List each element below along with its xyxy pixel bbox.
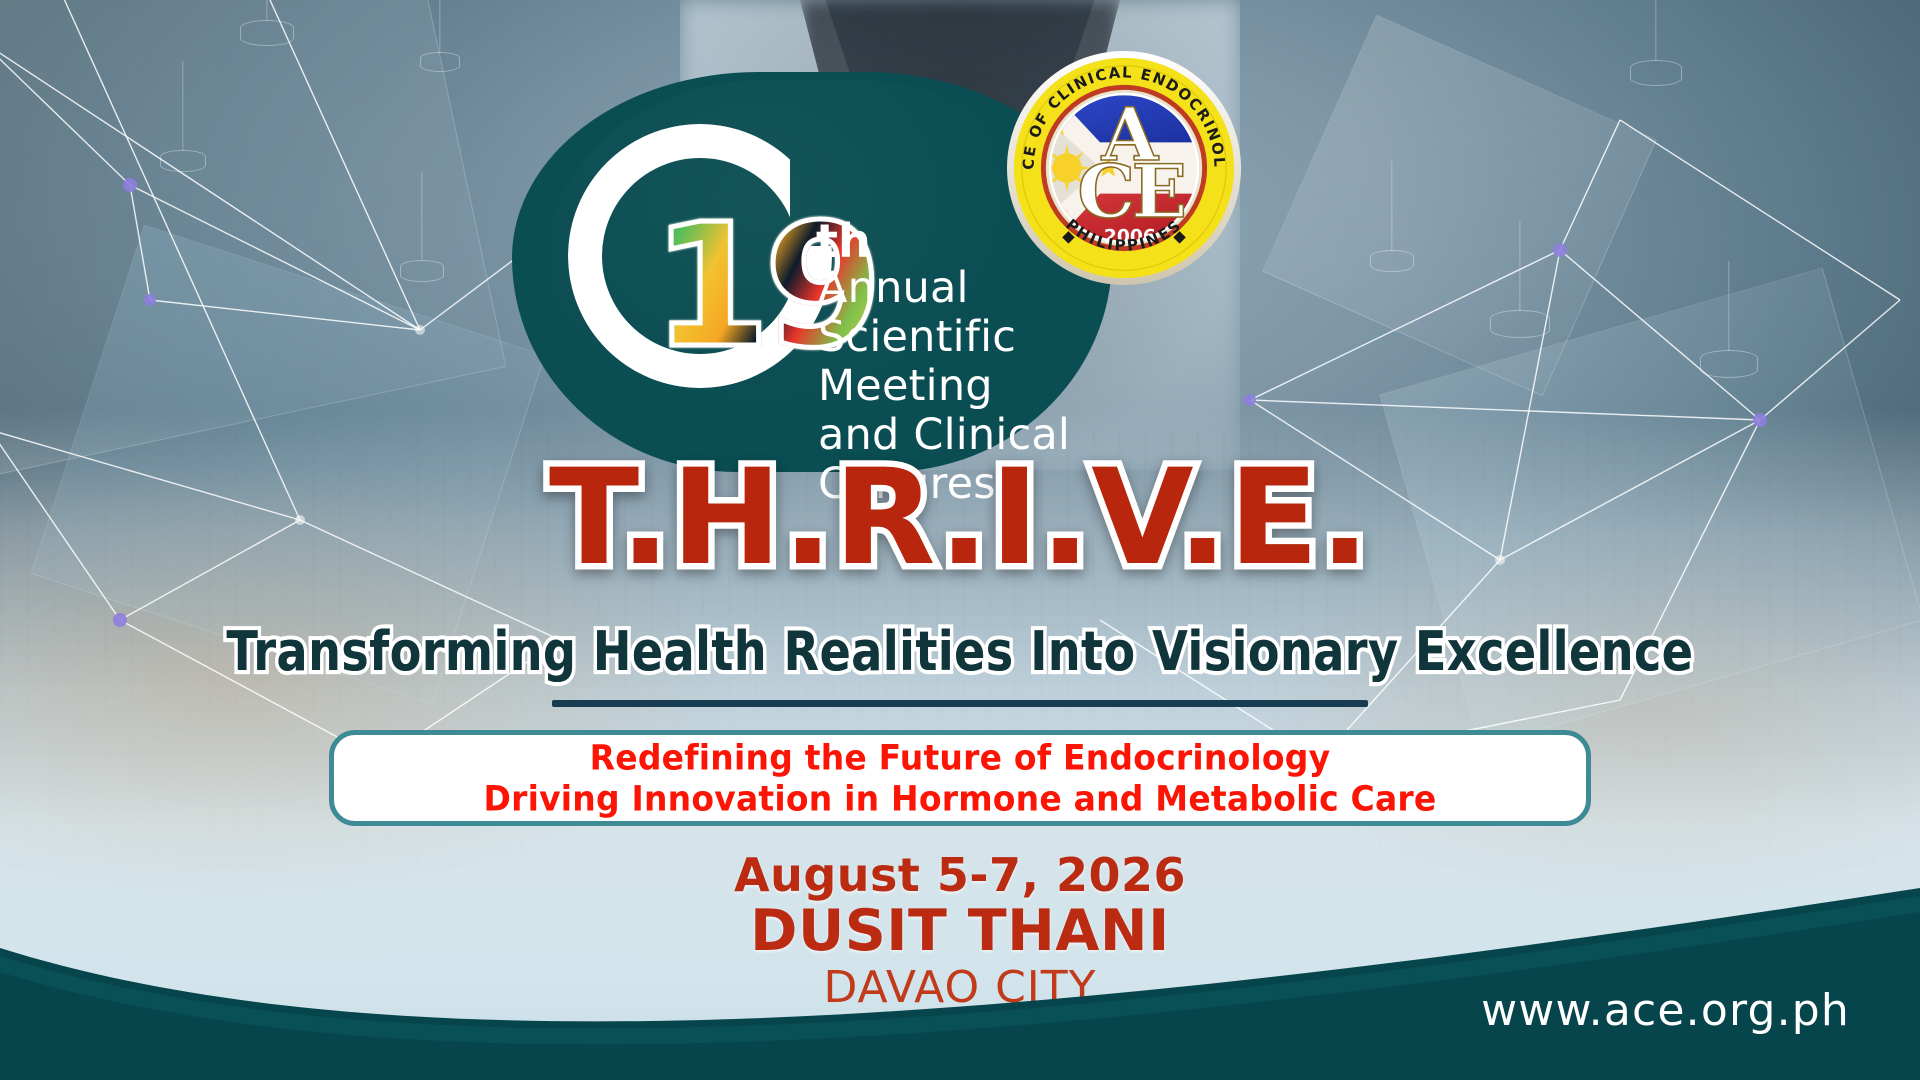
ace-seal-icon: A C E 2006 ALLIANCE OF CLINICAL ENDOCRIN…	[1006, 50, 1242, 286]
subtitle-line-1: Redefining the Future of Endocrinology	[590, 737, 1331, 778]
meeting-line-scientific: Scientific Meeting	[818, 313, 1100, 411]
page-title: T.H.R.I.V.E.	[0, 452, 1920, 584]
website-url[interactable]: www.ace.org.ph	[1481, 985, 1850, 1036]
conference-banner: 19 th Annual Scientific Meeting and Clin…	[0, 0, 1920, 1080]
tagline: Transforming Health Realities Into Visio…	[0, 624, 1920, 678]
seal-monogram-c: C	[1077, 150, 1135, 235]
edition-suffix: th	[816, 214, 871, 268]
tagline-text: Transforming Health Realities Into Visio…	[227, 619, 1694, 683]
tagline-underline	[552, 700, 1368, 707]
